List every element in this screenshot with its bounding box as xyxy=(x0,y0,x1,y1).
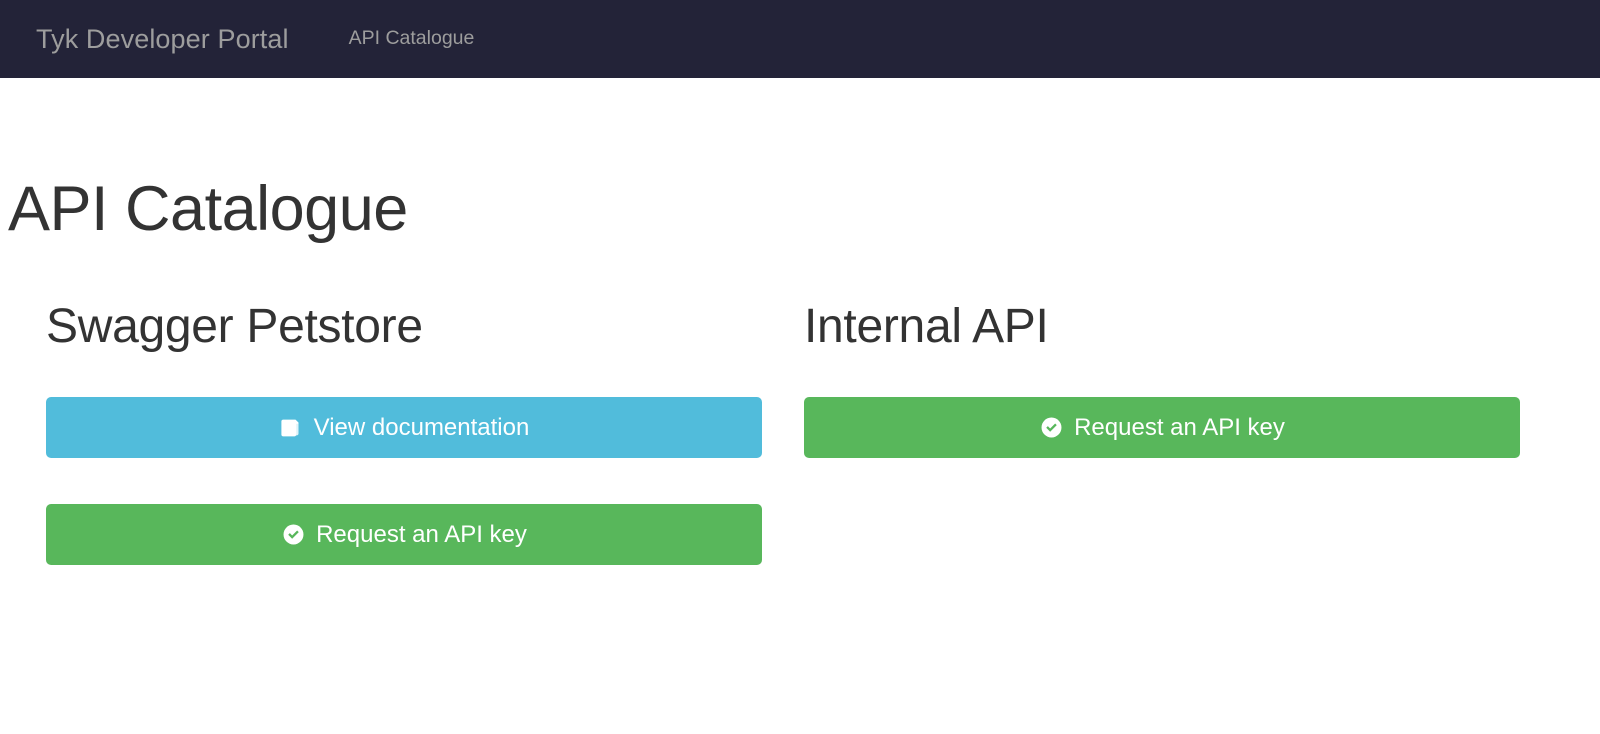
request-api-key-label: Request an API key xyxy=(1074,416,1285,440)
request-api-key-label: Request an API key xyxy=(316,523,527,547)
api-action-buttons: Request an API key xyxy=(804,397,1546,458)
request-api-key-button[interactable]: Request an API key xyxy=(804,397,1520,458)
navbar-nav: API Catalogue xyxy=(345,23,479,55)
api-title: Internal API xyxy=(804,303,1546,351)
api-card: Swagger Petstore View documentation xyxy=(38,303,796,565)
check-circle-icon xyxy=(1039,416,1063,440)
book-icon xyxy=(279,416,303,440)
check-circle-icon xyxy=(281,523,305,547)
view-documentation-button[interactable]: View documentation xyxy=(46,397,762,458)
api-action-buttons: View documentation Request an API key xyxy=(46,397,788,565)
top-navbar: Tyk Developer Portal API Catalogue xyxy=(0,0,1600,78)
navbar-brand[interactable]: Tyk Developer Portal xyxy=(36,26,289,53)
content-container: API Catalogue Swagger Petstore View docu… xyxy=(0,178,1600,565)
api-card-grid: Swagger Petstore View documentation xyxy=(8,303,1592,565)
nav-link-api-catalogue[interactable]: API Catalogue xyxy=(345,23,479,55)
page-title: API Catalogue xyxy=(8,178,1592,241)
nav-item-api-catalogue[interactable]: API Catalogue xyxy=(345,23,479,55)
view-documentation-label: View documentation xyxy=(314,416,530,440)
api-card: Internal API Request an API key xyxy=(796,303,1554,565)
request-api-key-button[interactable]: Request an API key xyxy=(46,504,762,565)
api-title: Swagger Petstore xyxy=(46,303,788,351)
page-content: API Catalogue Swagger Petstore View docu… xyxy=(0,178,1600,565)
